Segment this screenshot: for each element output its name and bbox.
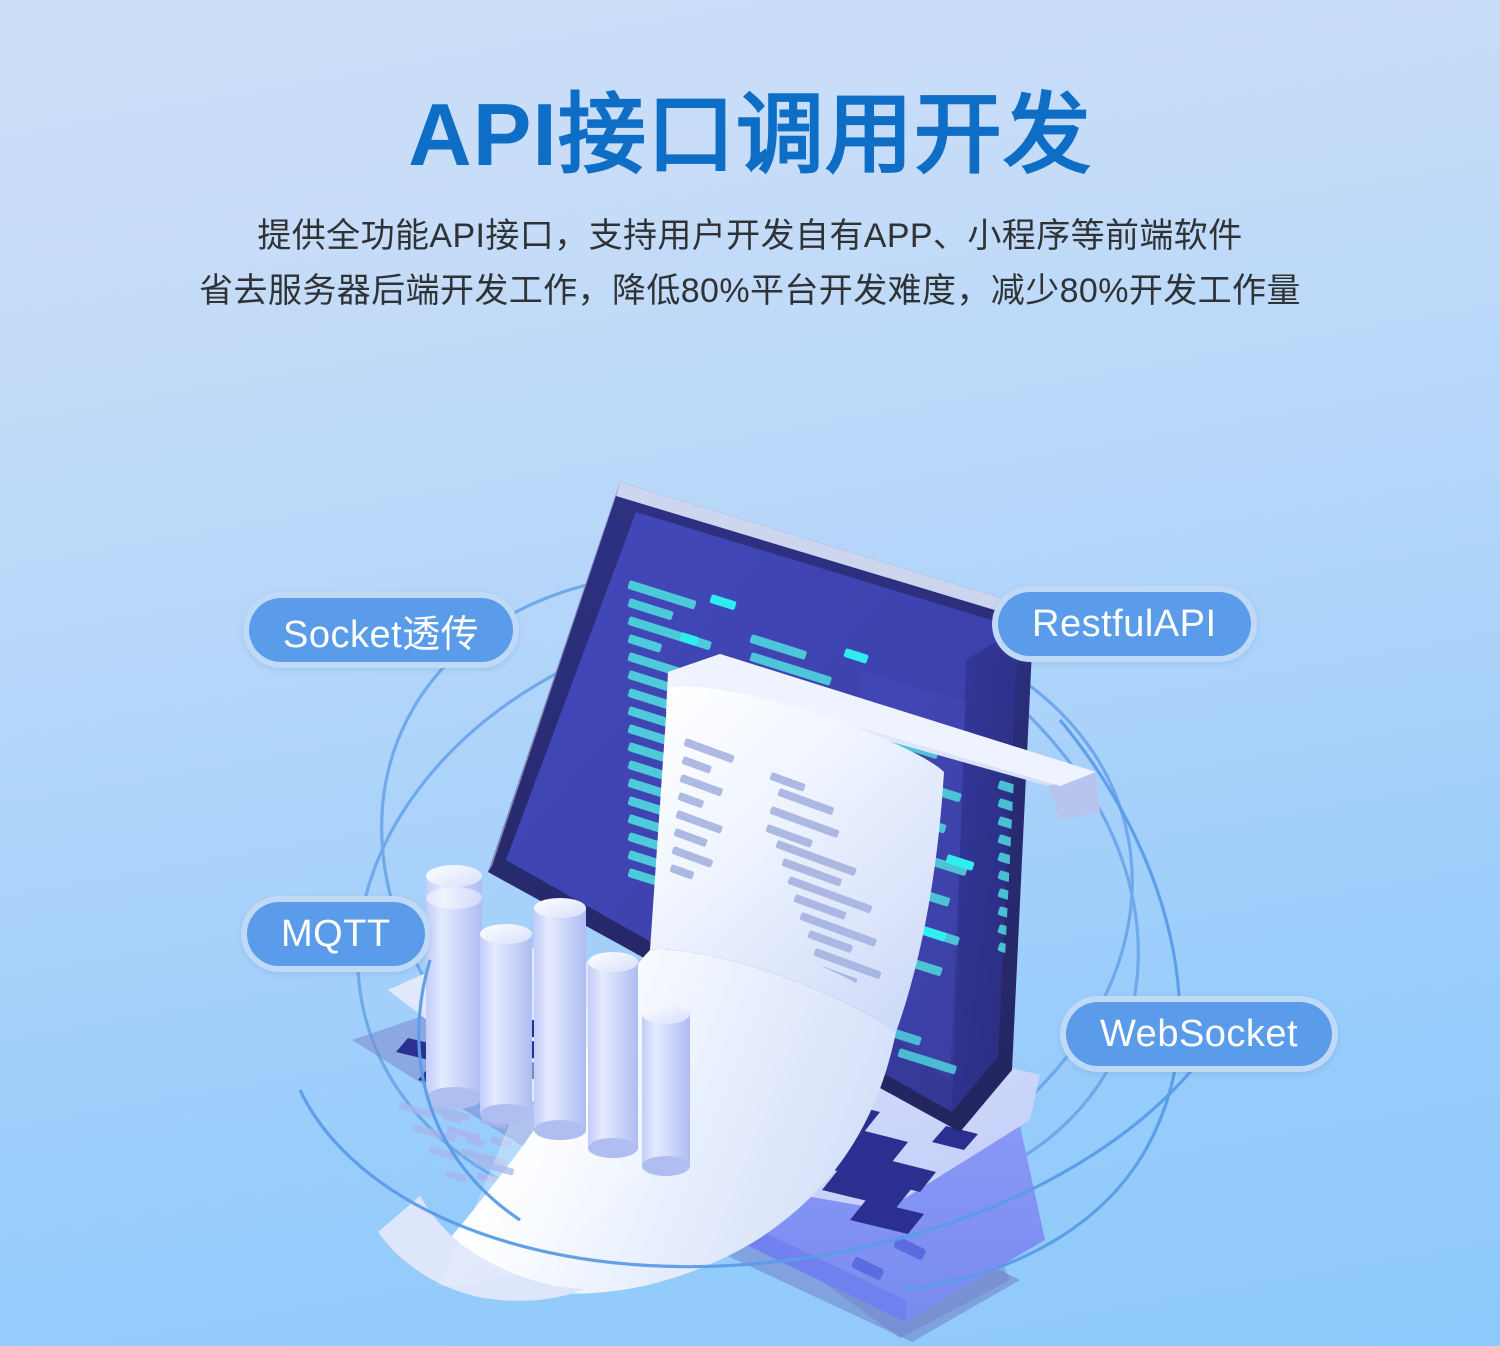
tag-label: MQTT <box>281 913 391 956</box>
tag-label: RestfulAPI <box>1032 603 1217 646</box>
subtitle-line-2: 省去服务器后端开发工作，降低80%平台开发难度，减少80%开发工作量 <box>0 264 1500 319</box>
tag-socket-transparent-transmission[interactable]: Socket透传 <box>243 592 519 668</box>
cylinder-4 <box>588 952 638 1158</box>
promo-banner: API接口调用开发 提供全功能API接口，支持用户开发自有APP、小程序等前端软… <box>0 0 1500 1346</box>
tag-mqtt[interactable]: MQTT <box>241 896 431 972</box>
cylinder-1 <box>426 865 482 1109</box>
subtitle-line-1: 提供全功能API接口，支持用户开发自有APP、小程序等前端软件 <box>0 209 1500 264</box>
tag-label: WebSocket <box>1100 1013 1298 1056</box>
tag-websocket[interactable]: WebSocket <box>1060 996 1338 1072</box>
cylinder-3 <box>534 898 586 1140</box>
tag-label: Socket透传 <box>283 603 479 658</box>
illustration <box>0 420 1500 1346</box>
page-title: API接口调用开发 <box>0 0 1500 181</box>
cylinder-5 <box>642 1004 690 1176</box>
subtitle-block: 提供全功能API接口，支持用户开发自有APP、小程序等前端软件 省去服务器后端开… <box>0 209 1500 319</box>
header: API接口调用开发 提供全功能API接口，支持用户开发自有APP、小程序等前端软… <box>0 0 1500 319</box>
cylinder-2 <box>480 924 532 1124</box>
tag-restful-api[interactable]: RestfulAPI <box>992 586 1257 662</box>
